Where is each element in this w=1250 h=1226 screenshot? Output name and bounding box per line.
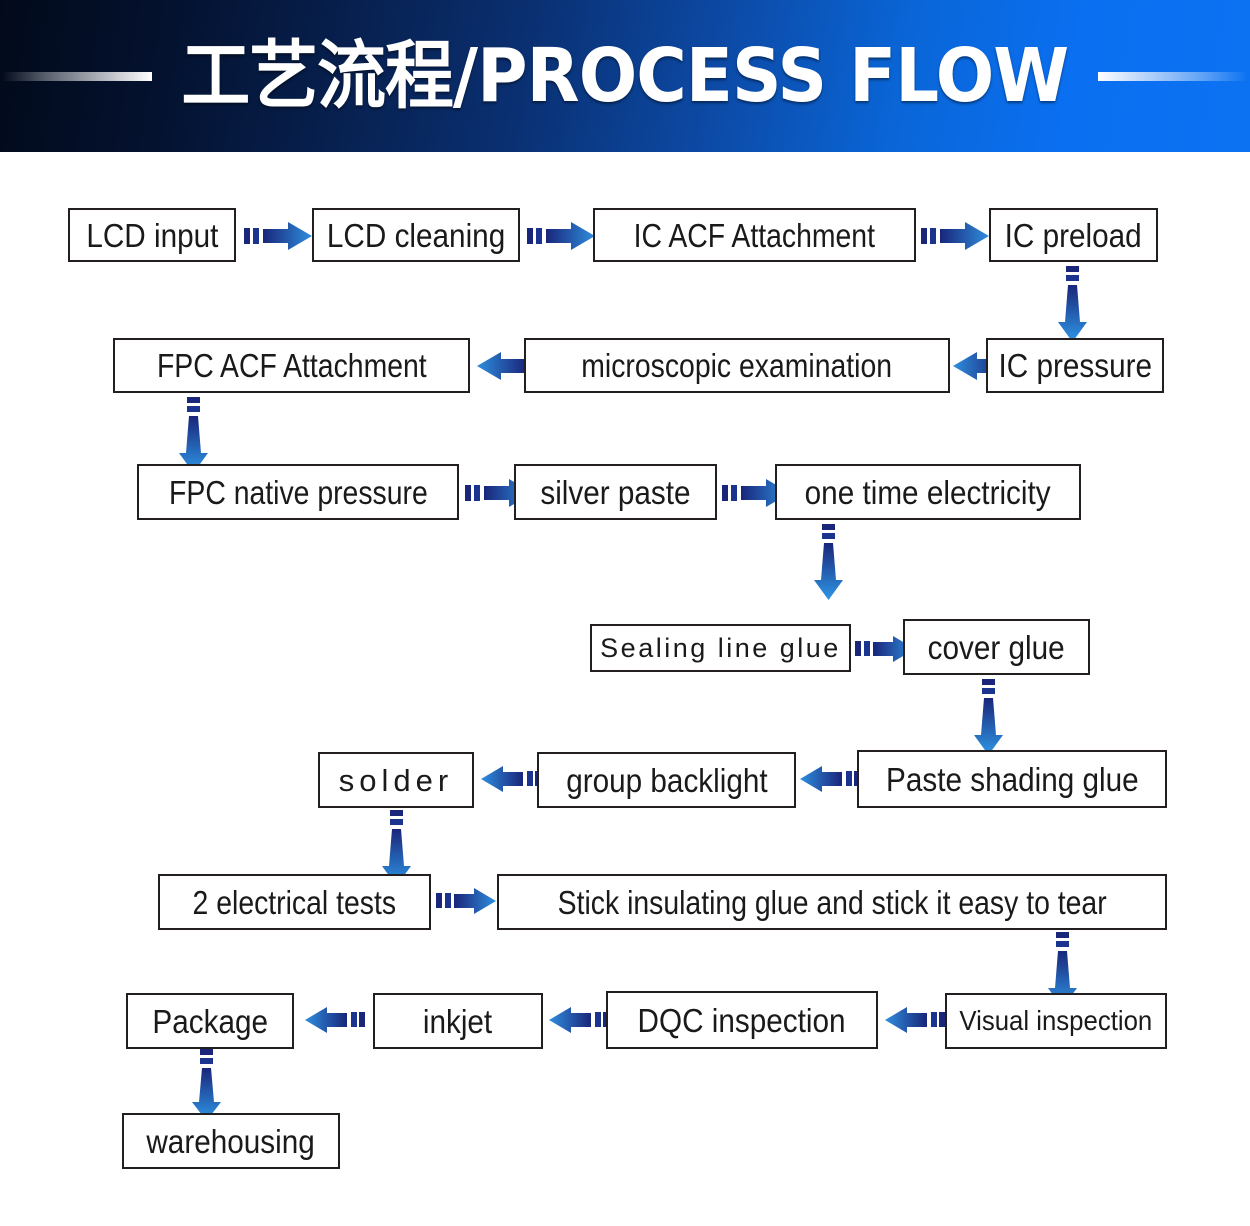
flow-node-inkjet[interactable]: inkjet xyxy=(373,993,543,1049)
flow-node-ic-preload[interactable]: IC preload xyxy=(989,208,1158,262)
flow-node-label: 2 electrical tests xyxy=(193,886,396,919)
flow-node-label: inkjet xyxy=(423,1005,492,1038)
arrow-right-icon xyxy=(921,222,989,250)
flow-node-lcd-cleaning[interactable]: LCD cleaning xyxy=(312,208,520,262)
flow-node-label: IC ACF Attachment xyxy=(634,219,875,252)
flow-node-2-electrical-tests[interactable]: 2 electrical tests xyxy=(158,874,431,930)
flow-node-group-backlight[interactable]: group backlight xyxy=(537,752,796,808)
flow-node-dqc-inspection[interactable]: DQC inspection xyxy=(606,991,878,1049)
flow-node-solder[interactable]: solder xyxy=(318,752,474,808)
flow-node-label: silver paste xyxy=(540,476,690,509)
flow-node-label: Package xyxy=(152,1005,268,1038)
flow-node-label: cover glue xyxy=(928,631,1065,664)
flow-node-label: warehousing xyxy=(147,1125,315,1158)
page-title: 工艺流程/PROCESS FLOW xyxy=(182,39,1069,113)
flow-node-fpc-native-pressure[interactable]: FPC native pressure xyxy=(137,464,459,520)
flow-node-package[interactable]: Package xyxy=(126,993,294,1049)
arrow-down-icon xyxy=(1057,266,1087,342)
flow-node-label: IC preload xyxy=(1005,219,1142,252)
flow-node-sealing-line-glue[interactable]: Sealing line glue xyxy=(590,624,851,672)
arrow-left-icon xyxy=(885,1007,945,1033)
flow-node-label: microscopic examination xyxy=(582,349,893,382)
arrow-left-icon xyxy=(800,766,860,792)
process-flow-diagram: LCD input LCD cleaning IC ACF Attachment xyxy=(0,152,1250,1226)
flow-node-label: LCD cleaning xyxy=(327,219,505,252)
flow-node-label: LCD input xyxy=(86,219,218,252)
flow-node-label: Sealing line glue xyxy=(600,635,841,662)
flow-node-ic-acf-attachment[interactable]: IC ACF Attachment xyxy=(593,208,916,262)
flow-node-one-time-electricity[interactable]: one time electricity xyxy=(775,464,1081,520)
arrow-left-icon xyxy=(481,766,541,792)
arrow-right-icon xyxy=(527,222,595,250)
flow-node-fpc-acf-attachment[interactable]: FPC ACF Attachment xyxy=(113,338,470,393)
arrow-down-icon xyxy=(191,1049,221,1121)
flow-node-label: Paste shading glue xyxy=(886,763,1139,796)
flow-node-label: Stick insulating glue and stick it easy … xyxy=(558,886,1107,919)
flow-node-silver-paste[interactable]: silver paste xyxy=(514,464,717,520)
flow-node-label: Visual inspection xyxy=(960,1007,1153,1035)
flow-node-label: IC pressure xyxy=(998,349,1152,382)
arrow-down-icon xyxy=(813,524,843,600)
flow-node-label: DQC inspection xyxy=(638,1004,846,1037)
flow-node-microscopic-examination[interactable]: microscopic examination xyxy=(524,338,950,393)
header-rule-left-icon xyxy=(2,72,152,81)
arrow-down-icon xyxy=(178,397,208,473)
arrow-down-icon xyxy=(973,679,1003,755)
flow-node-cover-glue[interactable]: cover glue xyxy=(903,619,1090,675)
page-header-banner: 工艺流程/PROCESS FLOW xyxy=(0,0,1250,152)
flow-node-lcd-input[interactable]: LCD input xyxy=(68,208,236,262)
flow-node-label: FPC native pressure xyxy=(169,476,428,509)
flow-node-label: FPC ACF Attachment xyxy=(157,349,427,382)
arrow-right-icon xyxy=(244,222,312,250)
header-rule-right-icon xyxy=(1098,72,1248,81)
flow-node-paste-shading-glue[interactable]: Paste shading glue xyxy=(857,750,1167,808)
flow-node-ic-pressure[interactable]: IC pressure xyxy=(986,338,1164,393)
flow-node-label: solder xyxy=(339,765,453,796)
flow-node-label: group backlight xyxy=(566,764,767,797)
flow-node-visual-inspection[interactable]: Visual inspection xyxy=(945,993,1167,1049)
arrow-left-icon xyxy=(305,1007,365,1033)
flow-node-stick-insulating-glue[interactable]: Stick insulating glue and stick it easy … xyxy=(497,874,1167,930)
flow-node-label: one time electricity xyxy=(805,476,1051,509)
arrow-right-icon xyxy=(436,888,496,914)
arrow-left-icon xyxy=(549,1007,609,1033)
flow-node-warehousing[interactable]: warehousing xyxy=(122,1113,340,1169)
